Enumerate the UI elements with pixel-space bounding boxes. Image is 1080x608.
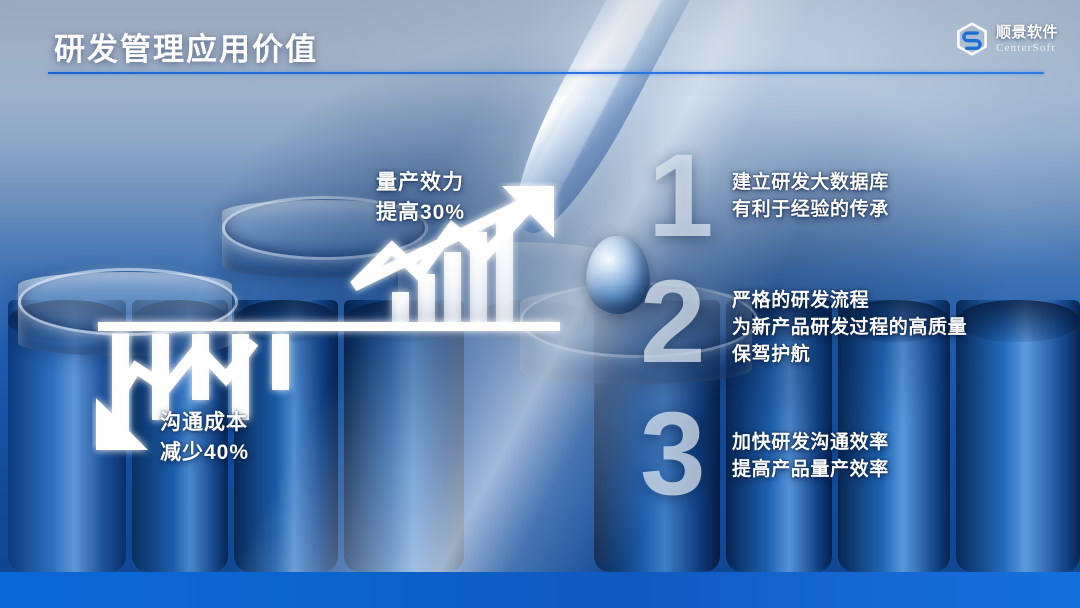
value-item-line-1: 加快研发沟通效率 bbox=[732, 430, 889, 457]
value-item-number: 3 bbox=[640, 404, 706, 505]
hexagon-s-logo-icon bbox=[955, 22, 989, 56]
value-item-line-2: 为新产品研发过程的高质量 bbox=[732, 315, 967, 342]
value-item-text: 加快研发沟通效率 提高产品量产效率 bbox=[732, 430, 889, 484]
presentation-slide: 研发管理应用价值 顺景软件 CenterSoft bbox=[0, 0, 1080, 608]
value-item-line-2: 有利于经验的传承 bbox=[732, 197, 889, 224]
value-item-number: 2 bbox=[640, 272, 706, 373]
value-item-1: 1 建立研发大数据库 有利于经验的传承 bbox=[648, 146, 889, 247]
footer-bar bbox=[0, 572, 1080, 608]
value-item-2: 2 严格的研发流程 为新产品研发过程的高质量 保驾护航 bbox=[640, 272, 967, 373]
callout-line-1: 沟通成本 bbox=[160, 408, 249, 438]
logo-name-en: CenterSoft bbox=[996, 43, 1058, 54]
callout-production-efficiency: 量产效力 提高30% bbox=[376, 168, 465, 229]
brand-logo: 顺景软件 CenterSoft bbox=[955, 22, 1058, 56]
callout-line-2: 提高30% bbox=[376, 198, 465, 228]
value-item-text: 建立研发大数据库 有利于经验的传承 bbox=[732, 170, 889, 224]
callout-line-1: 量产效力 bbox=[376, 168, 465, 198]
page-title: 研发管理应用价值 bbox=[54, 24, 318, 69]
value-item-3: 3 加快研发沟通效率 提高产品量产效率 bbox=[640, 404, 889, 505]
value-item-line-2: 提高产品量产效率 bbox=[732, 457, 889, 484]
value-item-line-1: 建立研发大数据库 bbox=[732, 170, 889, 197]
chart-baseline bbox=[98, 322, 560, 331]
value-item-number: 1 bbox=[648, 146, 714, 247]
value-item-line-1: 严格的研发流程 bbox=[732, 288, 967, 315]
value-item-text: 严格的研发流程 为新产品研发过程的高质量 保驾护航 bbox=[732, 288, 967, 369]
logo-text-block: 顺景软件 CenterSoft bbox=[996, 25, 1058, 54]
title-underline bbox=[48, 72, 1044, 74]
callout-line-2: 减少40% bbox=[160, 438, 249, 468]
value-item-line-3: 保驾护航 bbox=[732, 342, 967, 369]
callout-communication-cost: 沟通成本 减少40% bbox=[160, 408, 249, 469]
logo-name-cn: 顺景软件 bbox=[996, 25, 1058, 40]
